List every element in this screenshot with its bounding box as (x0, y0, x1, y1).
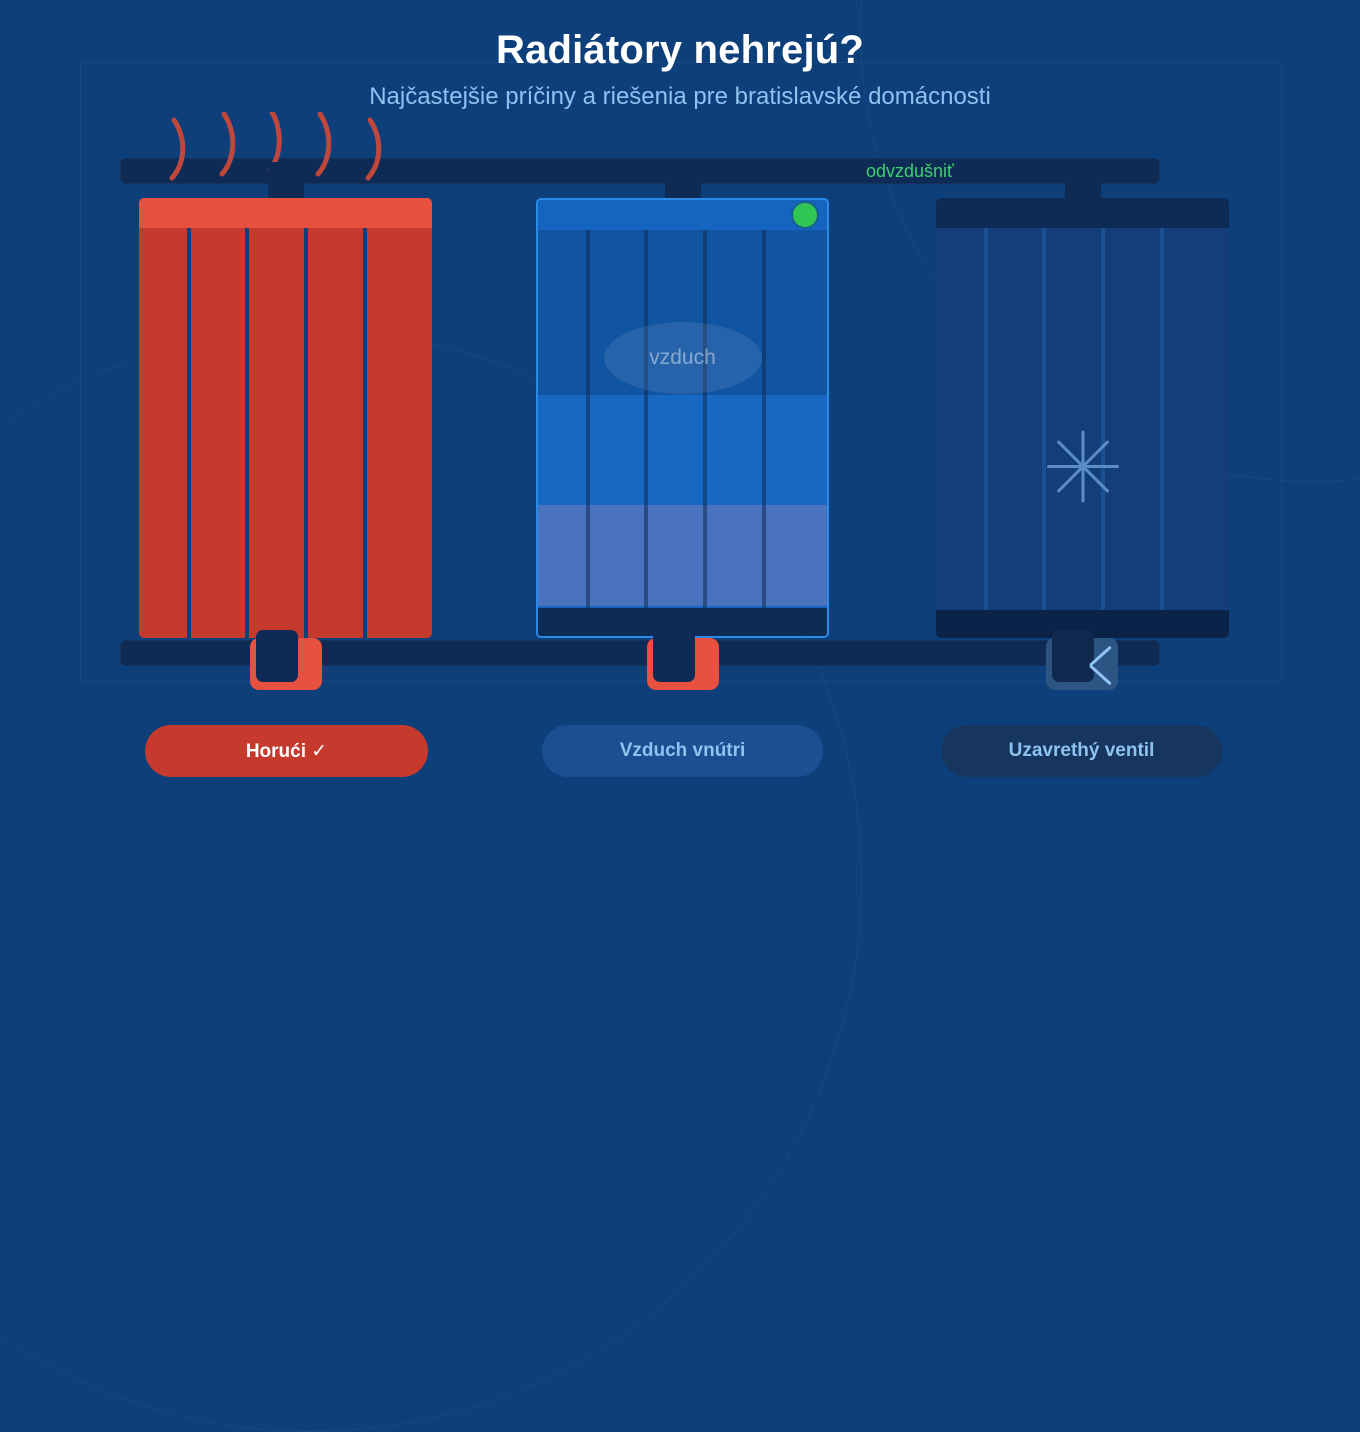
warm-water-layer (538, 395, 827, 505)
valve-closed-mark-icon (1090, 644, 1116, 684)
legend: Horući ✓ Vzduch vnútri Uzavrethý ventil (0, 725, 1360, 777)
bleed-valve-indicator-icon[interactable] (793, 203, 817, 227)
fin-divider (363, 228, 367, 638)
radiator-top-cap (936, 198, 1229, 228)
legend-button-air[interactable]: Vzduch vnútri (542, 725, 823, 777)
fin-divider (984, 228, 988, 638)
legend-button-closed-valve[interactable]: Uzavrethý ventil (941, 725, 1222, 777)
radiator-fins (936, 198, 1229, 638)
valve-stem (653, 630, 695, 682)
fin-divider (1160, 228, 1164, 638)
radiator-fins (139, 198, 432, 638)
fin-divider (245, 228, 249, 638)
radiator-hot[interactable] (139, 198, 432, 638)
radiator-cold[interactable] (936, 198, 1229, 638)
radiator-diagram: odvzdušniť (0, 0, 1360, 840)
fin-divider (1042, 228, 1046, 638)
radiator-body (936, 198, 1229, 638)
radiator-body: vzduch (536, 198, 829, 638)
radiator-air-trapped[interactable]: vzduch (536, 198, 829, 638)
fin-divider (304, 228, 308, 638)
legend-button-hot[interactable]: Horući ✓ (145, 725, 428, 777)
valve-stem (256, 630, 298, 682)
air-bubble: vzduch (604, 322, 762, 394)
air-bubble-label: vzduch (649, 346, 716, 370)
bleed-valve-label: odvzdušniť (866, 161, 954, 182)
fin-divider (187, 228, 191, 638)
cold-water-layer (538, 505, 827, 606)
radiator-body (139, 198, 432, 638)
valve-open-air[interactable] (647, 638, 719, 690)
valve-stem (1052, 630, 1094, 682)
radiator-top-cap (538, 200, 827, 230)
valve-closed[interactable] (1046, 638, 1118, 690)
radiator-top-cap (139, 198, 432, 228)
snowflake-icon (1047, 430, 1119, 502)
valve-open-hot[interactable] (250, 638, 322, 690)
